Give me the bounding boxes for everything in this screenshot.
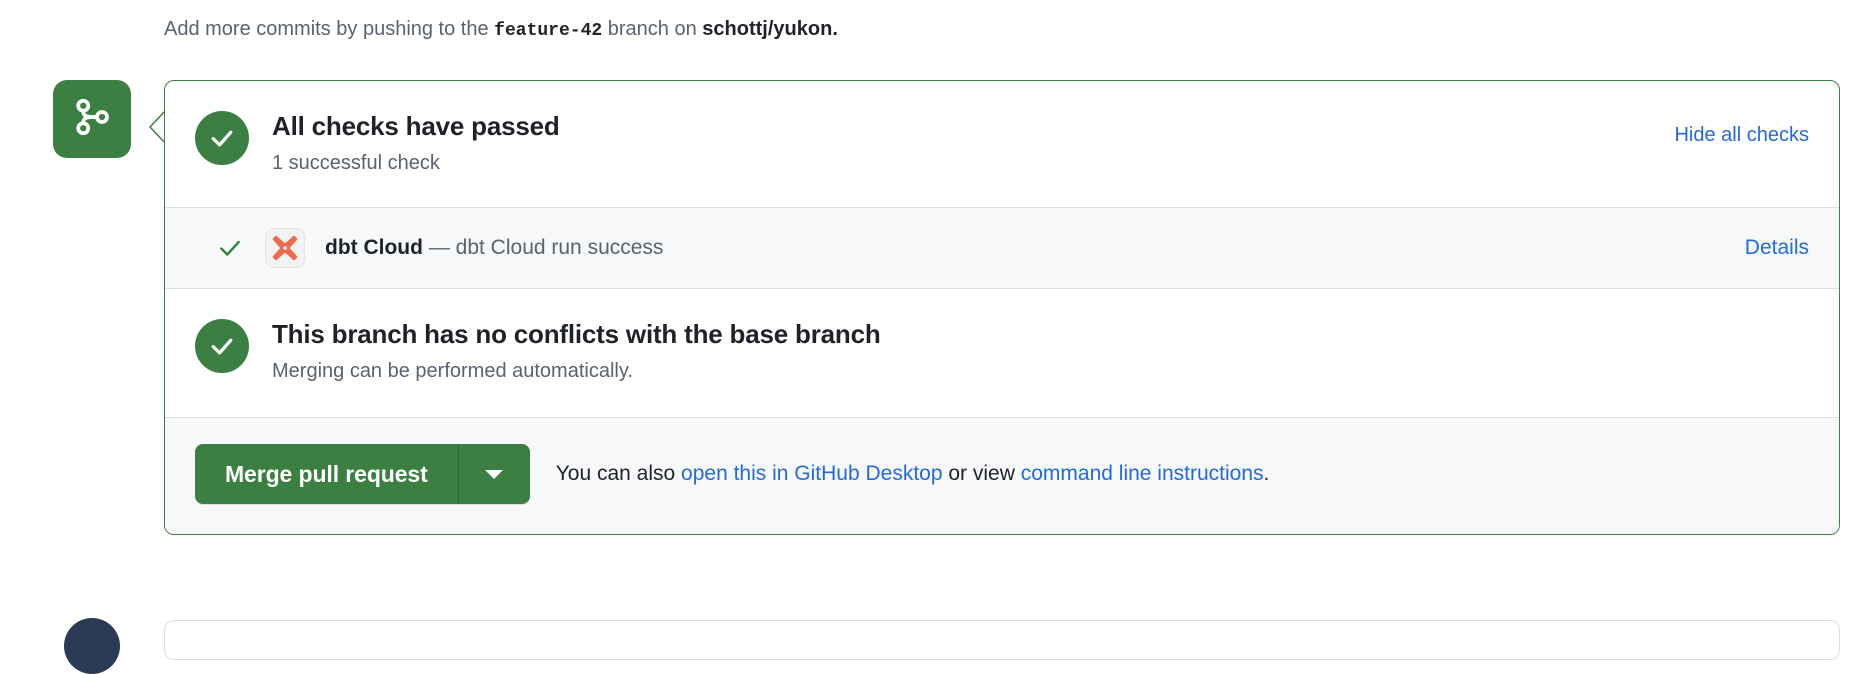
conflicts-subtitle: Merging can be performed automatically. [272, 357, 1809, 385]
check-circle-icon [195, 111, 249, 165]
footer-note-middle: or view [948, 462, 1015, 485]
merge-button-group[interactable]: Merge pull request [195, 444, 530, 504]
git-merge-icon [72, 97, 112, 142]
merge-footer-note: You can also open this in GitHub Desktop… [556, 460, 1270, 488]
check-details-link[interactable]: Details [1745, 236, 1809, 260]
check-label: dbt Cloud — dbt Cloud run success [325, 234, 663, 262]
checks-header-title: All checks have passed [272, 109, 1674, 143]
open-in-github-desktop-link[interactable]: open this in GitHub Desktop [681, 462, 942, 485]
footer-note-suffix: . [1264, 462, 1270, 485]
push-hint-prefix: Add more commits by pushing to the [164, 18, 489, 40]
checks-header-subtitle: 1 successful check [272, 149, 1674, 177]
merge-options-dropdown-button[interactable] [458, 444, 530, 504]
check-description: dbt Cloud run success [456, 236, 664, 259]
push-commits-hint: Add more commits by pushing to the featu… [164, 14, 838, 46]
checks-header-text: All checks have passed 1 successful chec… [272, 109, 1674, 177]
conflicts-section: This branch has no conflicts with the ba… [165, 289, 1839, 418]
merge-pull-request-button[interactable]: Merge pull request [195, 444, 458, 504]
checks-header: All checks have passed 1 successful chec… [165, 81, 1839, 208]
merge-footer: Merge pull request You can also open thi… [165, 418, 1839, 534]
repository-name: schottj/yukon [702, 18, 832, 40]
conflicts-text: This branch has no conflicts with the ba… [272, 317, 1809, 385]
check-circle-icon [195, 319, 249, 373]
check-context: dbt Cloud [325, 236, 423, 259]
command-line-instructions-link[interactable]: command line instructions [1021, 462, 1264, 485]
check-icon [217, 235, 243, 261]
check-row[interactable]: dbt Cloud — dbt Cloud run success Detail… [165, 208, 1839, 289]
push-hint-middle: branch on [608, 18, 697, 40]
branch-name: feature-42 [494, 21, 602, 41]
footer-note-prefix: You can also [556, 462, 676, 485]
timeline-merge-badge [53, 80, 131, 158]
next-timeline-avatar [64, 618, 120, 674]
next-timeline-box [164, 620, 1840, 660]
dbt-logo-icon [265, 228, 305, 268]
push-hint-suffix: . [832, 18, 838, 40]
merge-status-box: All checks have passed 1 successful chec… [164, 80, 1840, 535]
hide-all-checks-link[interactable]: Hide all checks [1674, 121, 1809, 149]
chevron-down-icon [485, 470, 503, 479]
conflicts-title: This branch has no conflicts with the ba… [272, 317, 1809, 351]
check-separator: — [429, 236, 450, 259]
